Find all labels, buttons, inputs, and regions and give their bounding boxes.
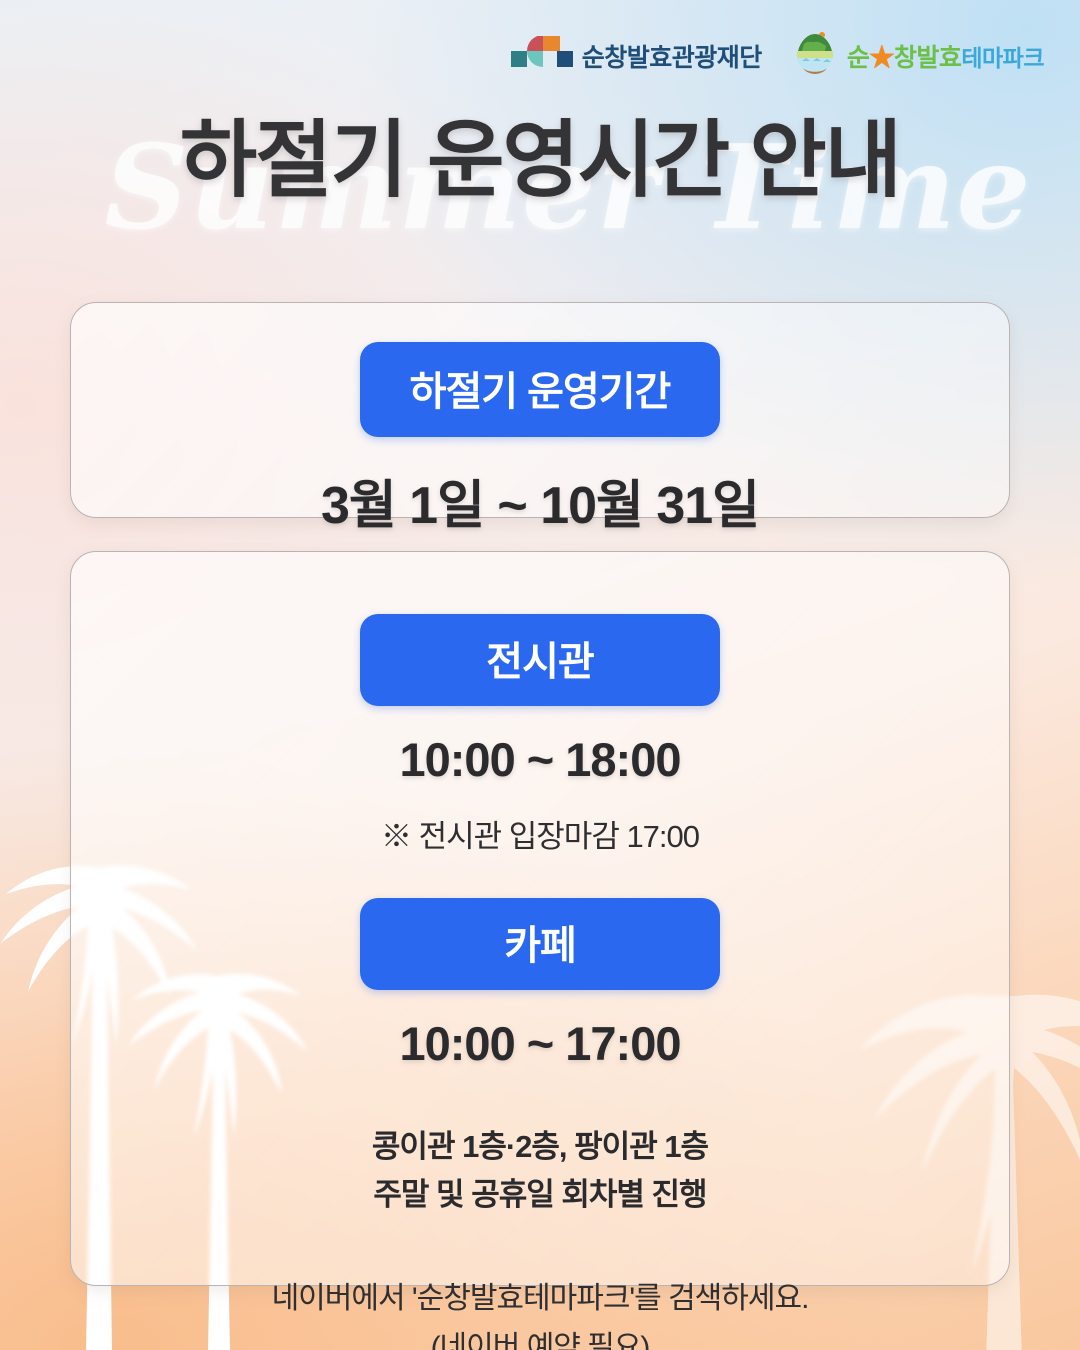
foundation-logo-mark-icon — [511, 36, 573, 75]
naver-reservation-line: (네이버 예약 필요) — [71, 1324, 1009, 1350]
themepark-logo-text-part1: 순 — [847, 44, 870, 72]
themepark-logo-mark-icon — [792, 30, 838, 81]
themepark-logo: 순★창발효테마파크 — [792, 30, 1044, 81]
exhibit-hall-badge: 전시관 — [360, 614, 720, 706]
naver-search-line: 네이버에서 '순창발효테마파크'를 검색하세요. — [71, 1275, 1009, 1324]
program-locations-line1: 콩이관 1층·2층, 팡이관 1층 — [71, 1123, 1009, 1171]
program-locations-line2: 주말 및 공휴일 회차별 진행 — [71, 1171, 1009, 1219]
operating-hours-card: 전시관 10:00 ~ 18:00 ※ 전시관 입장마감 17:00 카페 10… — [70, 551, 1010, 1286]
exhibit-hall-note: ※ 전시관 입장마감 17:00 — [71, 811, 1009, 856]
program-locations: 콩이관 1층·2층, 팡이관 1층 주말 및 공휴일 회차별 진행 — [71, 1123, 1009, 1219]
themepark-logo-text: 순★창발효테마파크 — [847, 38, 1044, 74]
naver-reservation-info: 네이버에서 '순창발효테마파크'를 검색하세요. (네이버 예약 필요) — [71, 1275, 1009, 1350]
title-block: Summer Time 하절기 운영시간 안내 — [0, 108, 1080, 278]
poster-canvas: 순창발효관광재단 순★창발효테마파크 Summer Ti — [0, 0, 1080, 1350]
logo-bar: 순창발효관광재단 순★창발효테마파크 — [511, 30, 1044, 81]
cafe-hours: 10:00 ~ 17:00 — [71, 1016, 1009, 1071]
exhibit-hall-hours: 10:00 ~ 18:00 — [71, 732, 1009, 787]
themepark-logo-text-star: ★ — [869, 44, 894, 72]
page-title: 하절기 운영시간 안내 — [0, 108, 1080, 213]
operating-period-badge: 하절기 운영기간 — [360, 342, 720, 437]
operating-period-range: 3월 1일 ~ 10월 31일 — [71, 463, 1009, 538]
operating-period-card: 하절기 운영기간 3월 1일 ~ 10월 31일 — [70, 302, 1010, 518]
themepark-logo-text-part3: 테마파크 — [961, 45, 1044, 71]
foundation-logo: 순창발효관광재단 — [511, 36, 762, 75]
foundation-logo-text: 순창발효관광재단 — [582, 38, 762, 74]
cafe-badge: 카페 — [360, 898, 720, 990]
themepark-logo-text-part2: 창발효 — [894, 44, 962, 72]
